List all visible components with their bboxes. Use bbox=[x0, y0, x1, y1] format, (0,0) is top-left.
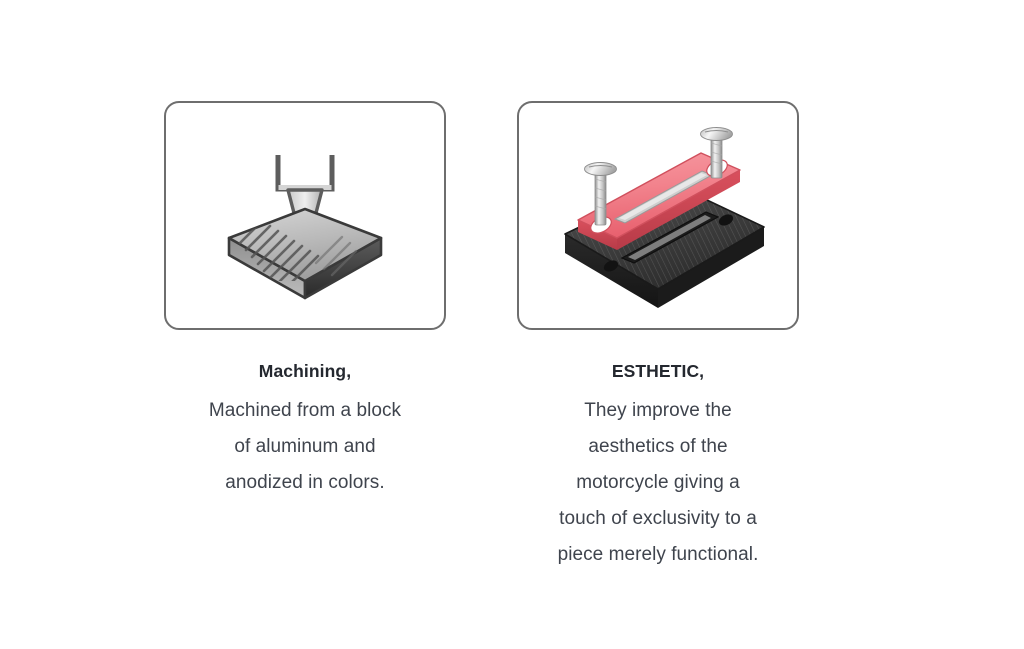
esthetic-body: They improve the aesthetics of the motor… bbox=[517, 393, 799, 573]
machining-icon-card[interactable] bbox=[164, 101, 446, 330]
aluminium-block bbox=[229, 209, 381, 298]
cnc-milling-machine-icon bbox=[166, 103, 444, 328]
body-line: Machined from a block bbox=[164, 393, 446, 429]
feature-esthetic: ESTHETIC, They improve the aesthetics of… bbox=[517, 101, 799, 573]
body-line: motorcycle giving a bbox=[517, 465, 799, 501]
esthetic-title: ESTHETIC, bbox=[517, 359, 799, 383]
screw-head-right bbox=[701, 128, 733, 141]
esthetic-caption: ESTHETIC, They improve the aesthetics of… bbox=[517, 359, 799, 573]
esthetic-icon-card[interactable] bbox=[517, 101, 799, 330]
body-line: They improve the bbox=[517, 393, 799, 429]
body-line: of aluminum and bbox=[164, 429, 446, 465]
machining-title: Machining, bbox=[164, 359, 446, 383]
feature-machining: Machining, Machined from a block of alum… bbox=[164, 101, 446, 501]
machining-body: Machined from a block of aluminum and an… bbox=[164, 393, 446, 501]
screw-head-left bbox=[585, 163, 617, 176]
machining-caption: Machining, Machined from a block of alum… bbox=[164, 359, 446, 501]
spindle-holder bbox=[278, 155, 332, 190]
anodized-plate-with-screws-icon bbox=[519, 103, 797, 328]
body-line: touch of exclusivity to a bbox=[517, 501, 799, 537]
body-line: piece merely functional. bbox=[517, 537, 799, 573]
feature-section: Machining, Machined from a block of alum… bbox=[0, 0, 1024, 649]
body-line: anodized in colors. bbox=[164, 465, 446, 501]
body-line: aesthetics of the bbox=[517, 429, 799, 465]
